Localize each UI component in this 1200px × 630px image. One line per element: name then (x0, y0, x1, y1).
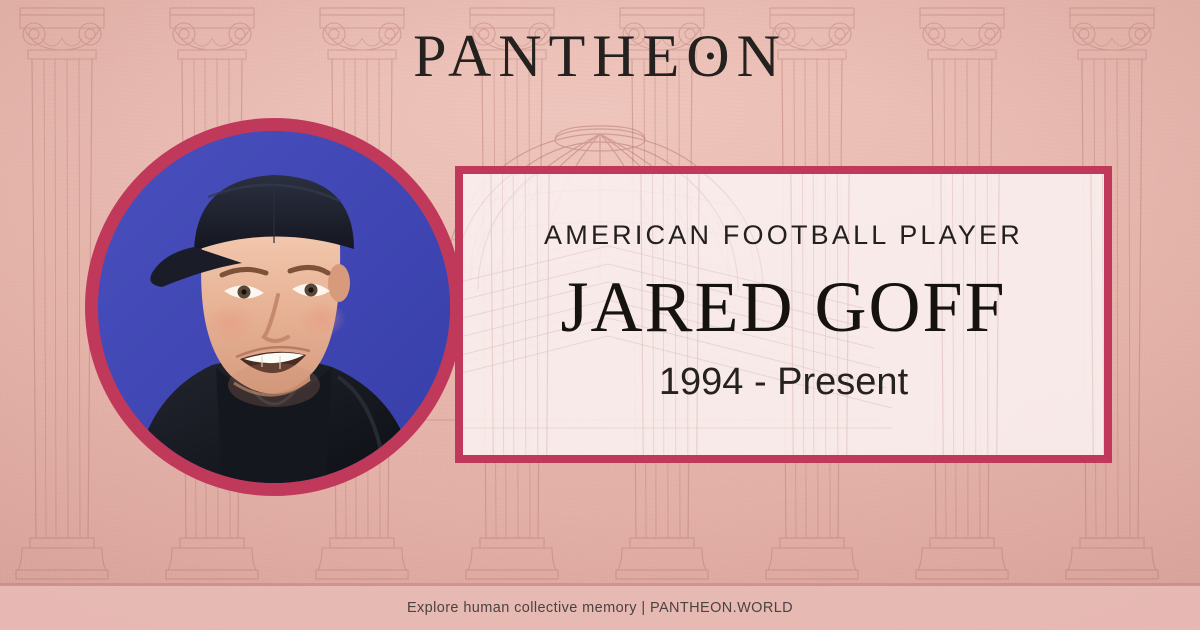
profile-info-content: AMERICAN FOOTBALL PLAYER JARED GOFF 1994… (463, 174, 1104, 455)
logo-dot-icon (707, 53, 714, 60)
logo-text-before: PANTHE (413, 23, 686, 89)
portrait-avatar[interactable] (85, 118, 463, 496)
occupation-label: AMERICAN FOOTBALL PLAYER (544, 222, 1023, 249)
logo-text-after: N (737, 23, 787, 89)
lifespan-label: 1994 - Present (659, 363, 908, 401)
pantheon-profile-card: PANTHEON (0, 0, 1200, 630)
pantheon-logo[interactable]: PANTHEON (0, 26, 1200, 86)
logo-o-wrap: O (686, 26, 736, 86)
footer-tagline[interactable]: Explore human collective memory | PANTHE… (0, 585, 1200, 630)
profile-info-card: AMERICAN FOOTBALL PLAYER JARED GOFF 1994… (455, 166, 1112, 463)
person-name: JARED GOFF (560, 271, 1006, 343)
portrait-photo (98, 131, 450, 483)
